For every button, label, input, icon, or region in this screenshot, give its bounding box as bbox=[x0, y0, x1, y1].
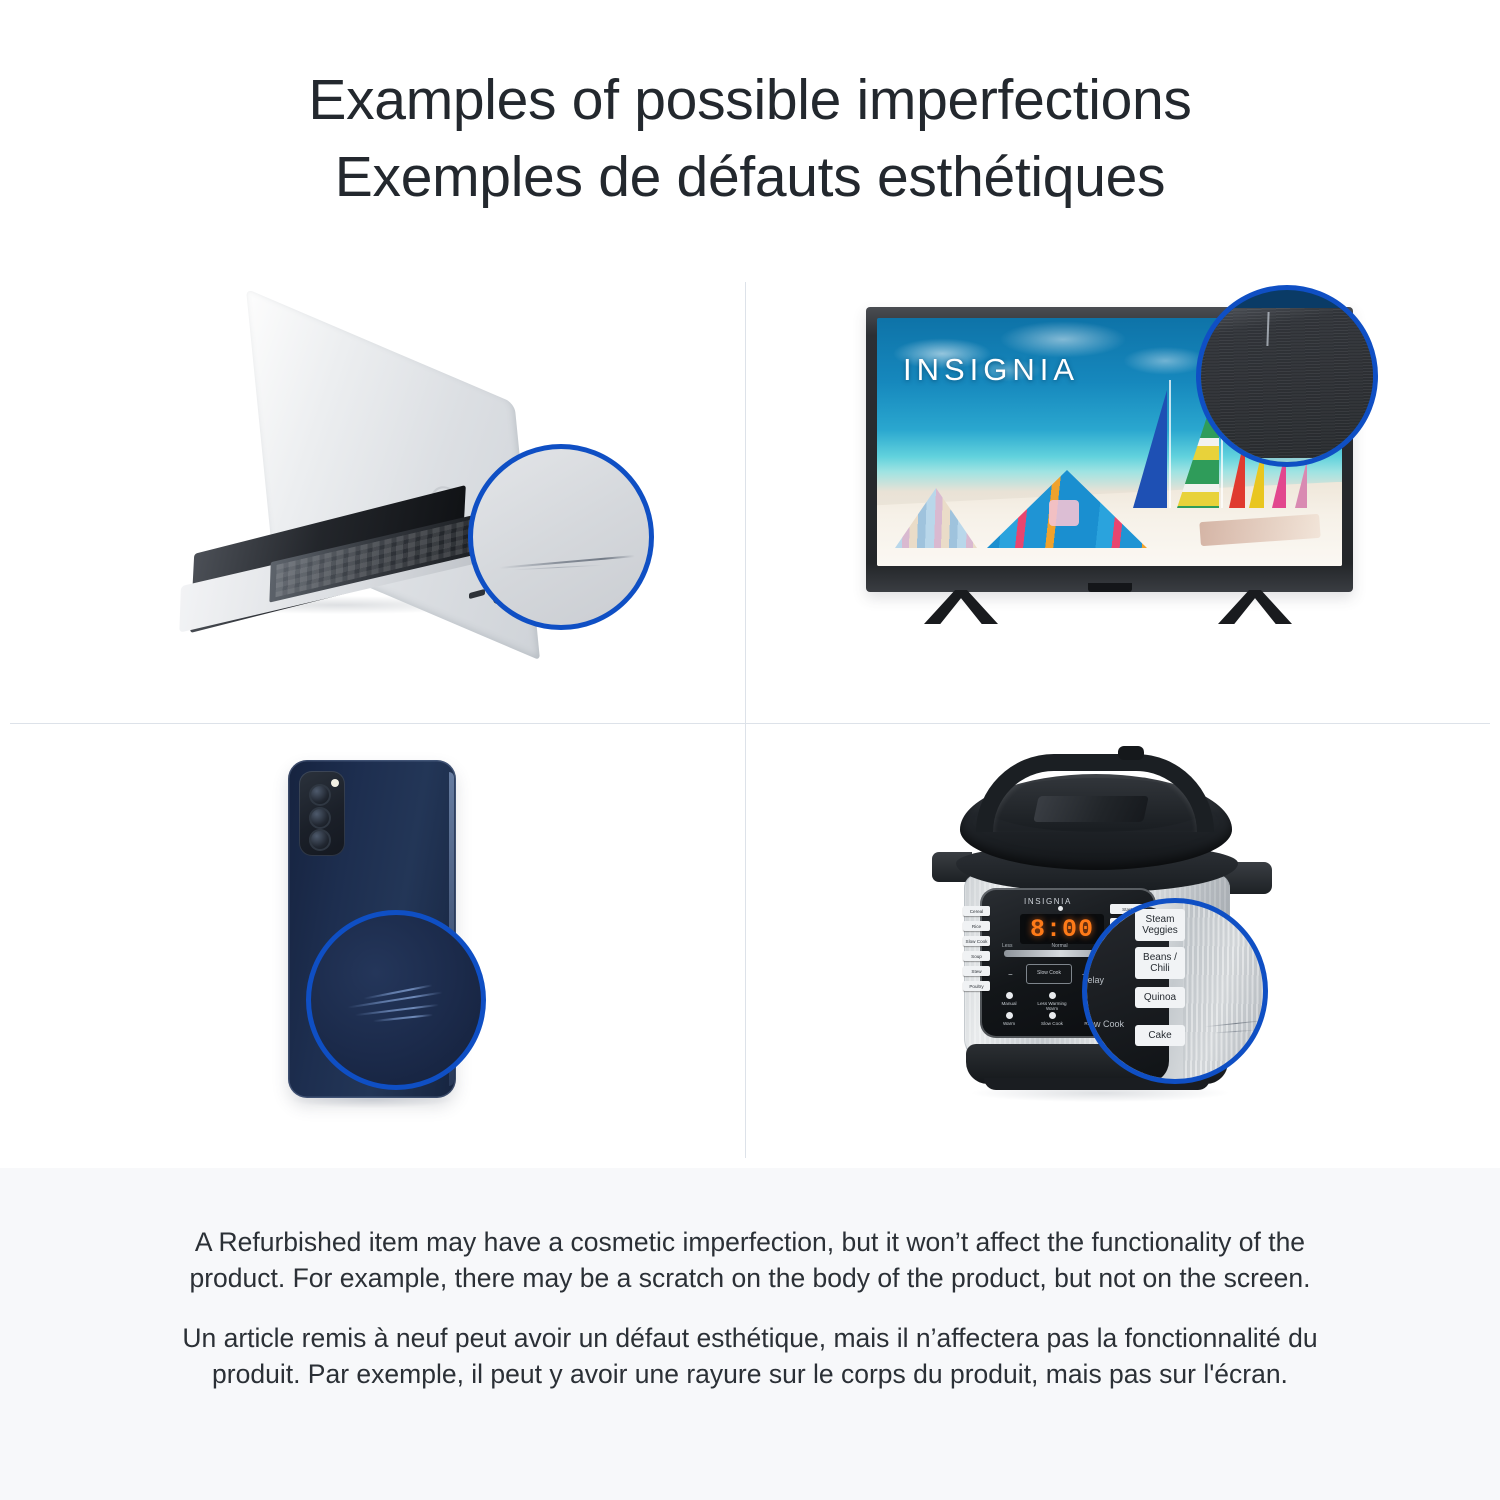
footer-description: A Refurbished item may have a cosmetic i… bbox=[0, 1168, 1500, 1500]
zoomed-button-steam-veggies: Steam Veggies bbox=[1135, 909, 1185, 941]
header: Examples of possible imperfections Exemp… bbox=[0, 0, 1500, 272]
example-cell-smartphone bbox=[0, 724, 745, 1168]
cooker-button-poultry[interactable]: Poultry bbox=[963, 981, 990, 991]
zoomed-button-quinoa: Quinoa bbox=[1135, 987, 1185, 1008]
cooker-button-keep-warm[interactable]: Less Warming Warm bbox=[1037, 992, 1067, 1012]
pressure-cooker-illustration: INSIGNIA 8:00 Less Normal More − + Slow … bbox=[932, 748, 1282, 1118]
description-french: Un article remis à neuf peut avoir un dé… bbox=[175, 1320, 1325, 1392]
camera-flash-icon bbox=[331, 779, 339, 787]
refurbished-imperfections-infographic: Examples of possible imperfections Exemp… bbox=[0, 0, 1500, 1500]
television-logo-badge bbox=[1088, 583, 1132, 592]
kite-badge bbox=[1049, 500, 1079, 526]
cooker-left-button-column: Cereal Rice Slow Cook Soup Stew Poultry bbox=[963, 906, 990, 991]
television-foot-right bbox=[1218, 590, 1292, 624]
cooker-button-slow-cook-alt[interactable]: Slow Cook bbox=[1037, 1012, 1067, 1026]
cooker-minus-button[interactable]: − bbox=[1008, 970, 1013, 979]
cooker-button-cereal[interactable]: Cereal bbox=[963, 906, 990, 916]
zoomed-button-beans-chili: Beans / Chili bbox=[1135, 947, 1185, 979]
zoomed-button-cake: Cake bbox=[1135, 1025, 1185, 1046]
cooker-pressure-valve-icon bbox=[1118, 746, 1144, 760]
cooker-button-rice[interactable]: Rice bbox=[963, 921, 990, 931]
cooker-button-soup[interactable]: Soup bbox=[963, 951, 990, 961]
description-english: A Refurbished item may have a cosmetic i… bbox=[175, 1224, 1325, 1296]
cooker-slow-cook-button[interactable]: Slow Cook bbox=[1026, 964, 1072, 984]
example-cell-laptop bbox=[0, 272, 745, 723]
television-foot-left bbox=[924, 590, 998, 624]
zoomed-label-slow-cook: Slow Cook bbox=[1082, 1019, 1124, 1029]
page-title-english: Examples of possible imperfections bbox=[308, 62, 1191, 139]
cooker-button-stew[interactable]: Stew bbox=[963, 966, 990, 976]
zoomed-bezel-texture bbox=[1197, 308, 1378, 458]
sailboat-mast bbox=[1169, 380, 1171, 508]
magnifier-circle-laptop bbox=[468, 444, 654, 630]
zoomed-label-delay: Delay bbox=[1082, 975, 1104, 985]
zoomed-stainless-texture bbox=[1183, 903, 1268, 1084]
magnifier-circle-television bbox=[1196, 285, 1378, 467]
camera-lens-icon bbox=[309, 807, 331, 829]
smartphone-illustration bbox=[248, 760, 498, 1132]
example-cell-pressure-cooker: INSIGNIA 8:00 Less Normal More − + Slow … bbox=[746, 724, 1500, 1168]
cooker-handle bbox=[976, 754, 1214, 832]
cooker-button-slow-cook[interactable]: Slow Cook bbox=[963, 936, 990, 946]
slider-label-normal: Normal bbox=[1052, 943, 1068, 949]
slider-label-less: Less bbox=[1002, 943, 1013, 949]
cooker-indicator-led bbox=[1058, 906, 1063, 911]
insignia-logo-text: INSIGNIA bbox=[903, 352, 1079, 388]
cooker-button-warm[interactable]: Warm bbox=[994, 1012, 1024, 1026]
camera-module bbox=[299, 771, 345, 856]
camera-lens-icon bbox=[309, 784, 331, 806]
television-illustration: INSIGNIA bbox=[866, 307, 1386, 667]
magnifier-circle-pressure-cooker: Delay Slow Cook Steam Veggies Beans / Ch… bbox=[1082, 898, 1268, 1084]
laptop-illustration bbox=[150, 352, 610, 672]
page-title-french: Exemples de défauts esthétiques bbox=[335, 139, 1165, 216]
phone-scratch-mark bbox=[373, 1014, 433, 1022]
cooker-brand-label: INSIGNIA bbox=[1024, 897, 1072, 906]
example-cell-television: INSIGNIA bbox=[746, 272, 1500, 723]
examples-grid: INSIGNIA bbox=[0, 272, 1500, 1168]
magnifier-circle-smartphone bbox=[306, 910, 486, 1090]
cooker-display-time: 8:00 bbox=[1030, 915, 1094, 944]
cooker-button-manual[interactable]: Manual bbox=[994, 992, 1024, 1012]
camera-lens-icon bbox=[309, 829, 331, 851]
